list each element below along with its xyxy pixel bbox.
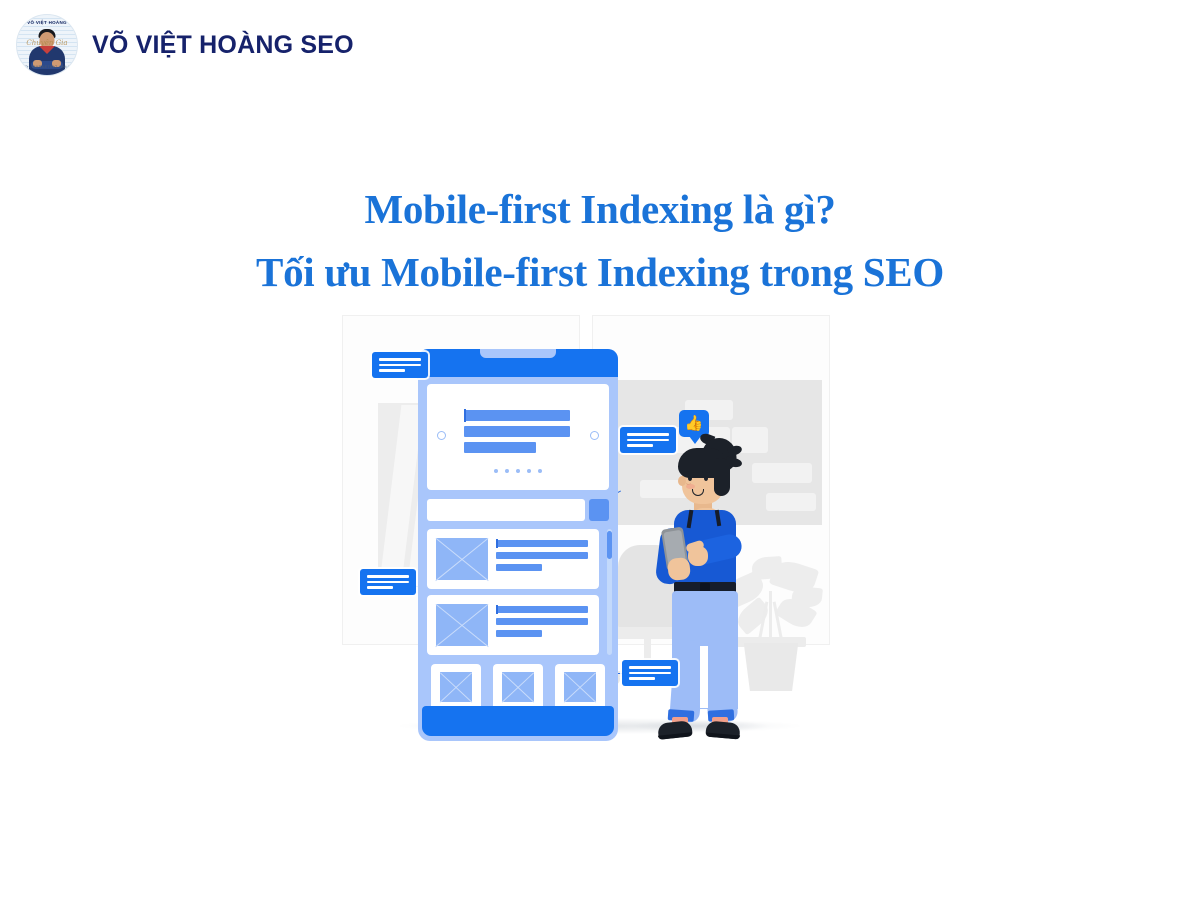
callout-bubble-bottom-right[interactable] [622,660,678,686]
callout-line [627,444,653,447]
list-item[interactable] [427,529,599,589]
bottom-navigation-bar[interactable] [422,706,614,736]
wall-card [766,493,816,511]
phone-notch [480,349,556,358]
callout-line [629,672,671,675]
avatar-portrait-icon: VÕ VIỆT HOÀNG Chuyên Gia SEO - MARKETING… [16,14,78,76]
pagination-dot[interactable] [538,469,542,473]
carousel-prev-icon[interactable] [437,431,446,440]
list-text-line [496,618,588,625]
image-placeholder-icon [436,604,488,646]
callout-bubble-bottom-left[interactable] [360,569,416,595]
list-text-line [496,606,588,613]
callout-bubble-top-left[interactable] [372,352,428,378]
search-bar[interactable] [427,499,609,521]
callout-line [367,581,409,584]
ear [678,476,686,486]
search-input[interactable] [427,499,585,521]
grid-tile[interactable] [555,664,605,710]
text-caret [496,539,498,548]
callout-line [367,575,409,578]
callout-line [629,677,655,680]
mobile-first-indexing-illustration: 👍 [300,305,900,775]
eye [688,476,692,481]
list-text-line [496,630,542,637]
callout-line [627,439,669,442]
grid-tile[interactable] [431,664,481,710]
carousel-next-icon[interactable] [590,431,599,440]
callout-line [379,358,421,361]
hair-side [714,458,730,496]
logo-bottom-text: SEO - MARKETING ONLINE [17,64,77,69]
text-caret [464,409,466,422]
logo-top-text: VÕ VIỆT HOÀNG [17,20,77,25]
thumbs-up-glyph: 👍 [685,416,704,431]
pagination-dot[interactable] [494,469,498,473]
hero-banner-card[interactable] [427,384,609,490]
callout-line [379,364,421,367]
carousel-pagination-dots[interactable] [427,469,609,473]
callout-line [629,666,671,669]
hero-text-bar [464,426,570,437]
title-line-1: Mobile-first Indexing là gì? [0,183,1200,235]
page-title: Mobile-first Indexing là gì? Tối ưu Mobi… [0,183,1200,298]
list-item[interactable] [427,595,599,655]
status-bar [418,349,618,377]
list-text-line [496,552,588,559]
callout-line [367,586,393,589]
text-caret [496,605,498,614]
list-text-line [496,540,588,547]
image-placeholder-icon [502,672,534,702]
hero-text-bar [464,442,536,453]
search-icon[interactable] [589,499,609,521]
pant-gap [700,646,708,708]
image-placeholder-icon [564,672,596,702]
grid-tile[interactable] [493,664,543,710]
title-line-2: Tối ưu Mobile-first Indexing trong SEO [0,246,1200,298]
phone-mockup[interactable] [418,349,618,741]
callout-bubble-middle-right[interactable] [620,427,676,453]
pagination-dot[interactable] [527,469,531,473]
callout-line [627,433,669,436]
list-text-line [496,564,542,571]
eyebrow [702,471,710,473]
pagination-dot[interactable] [505,469,509,473]
callout-line [379,369,405,372]
page-root: VÕ VIỆT HOÀNG Chuyên Gia SEO - MARKETING… [0,0,1200,897]
brand-header[interactable]: VÕ VIỆT HOÀNG Chuyên Gia SEO - MARKETING… [16,14,354,76]
eye [704,476,708,481]
brand-name: VÕ VIỆT HOÀNG SEO [92,31,354,60]
hero-text-bar [464,410,570,421]
image-placeholder-icon [440,672,472,702]
pagination-dot[interactable] [516,469,520,473]
image-placeholder-icon [436,538,488,580]
scrollbar-thumb[interactable] [607,531,612,559]
